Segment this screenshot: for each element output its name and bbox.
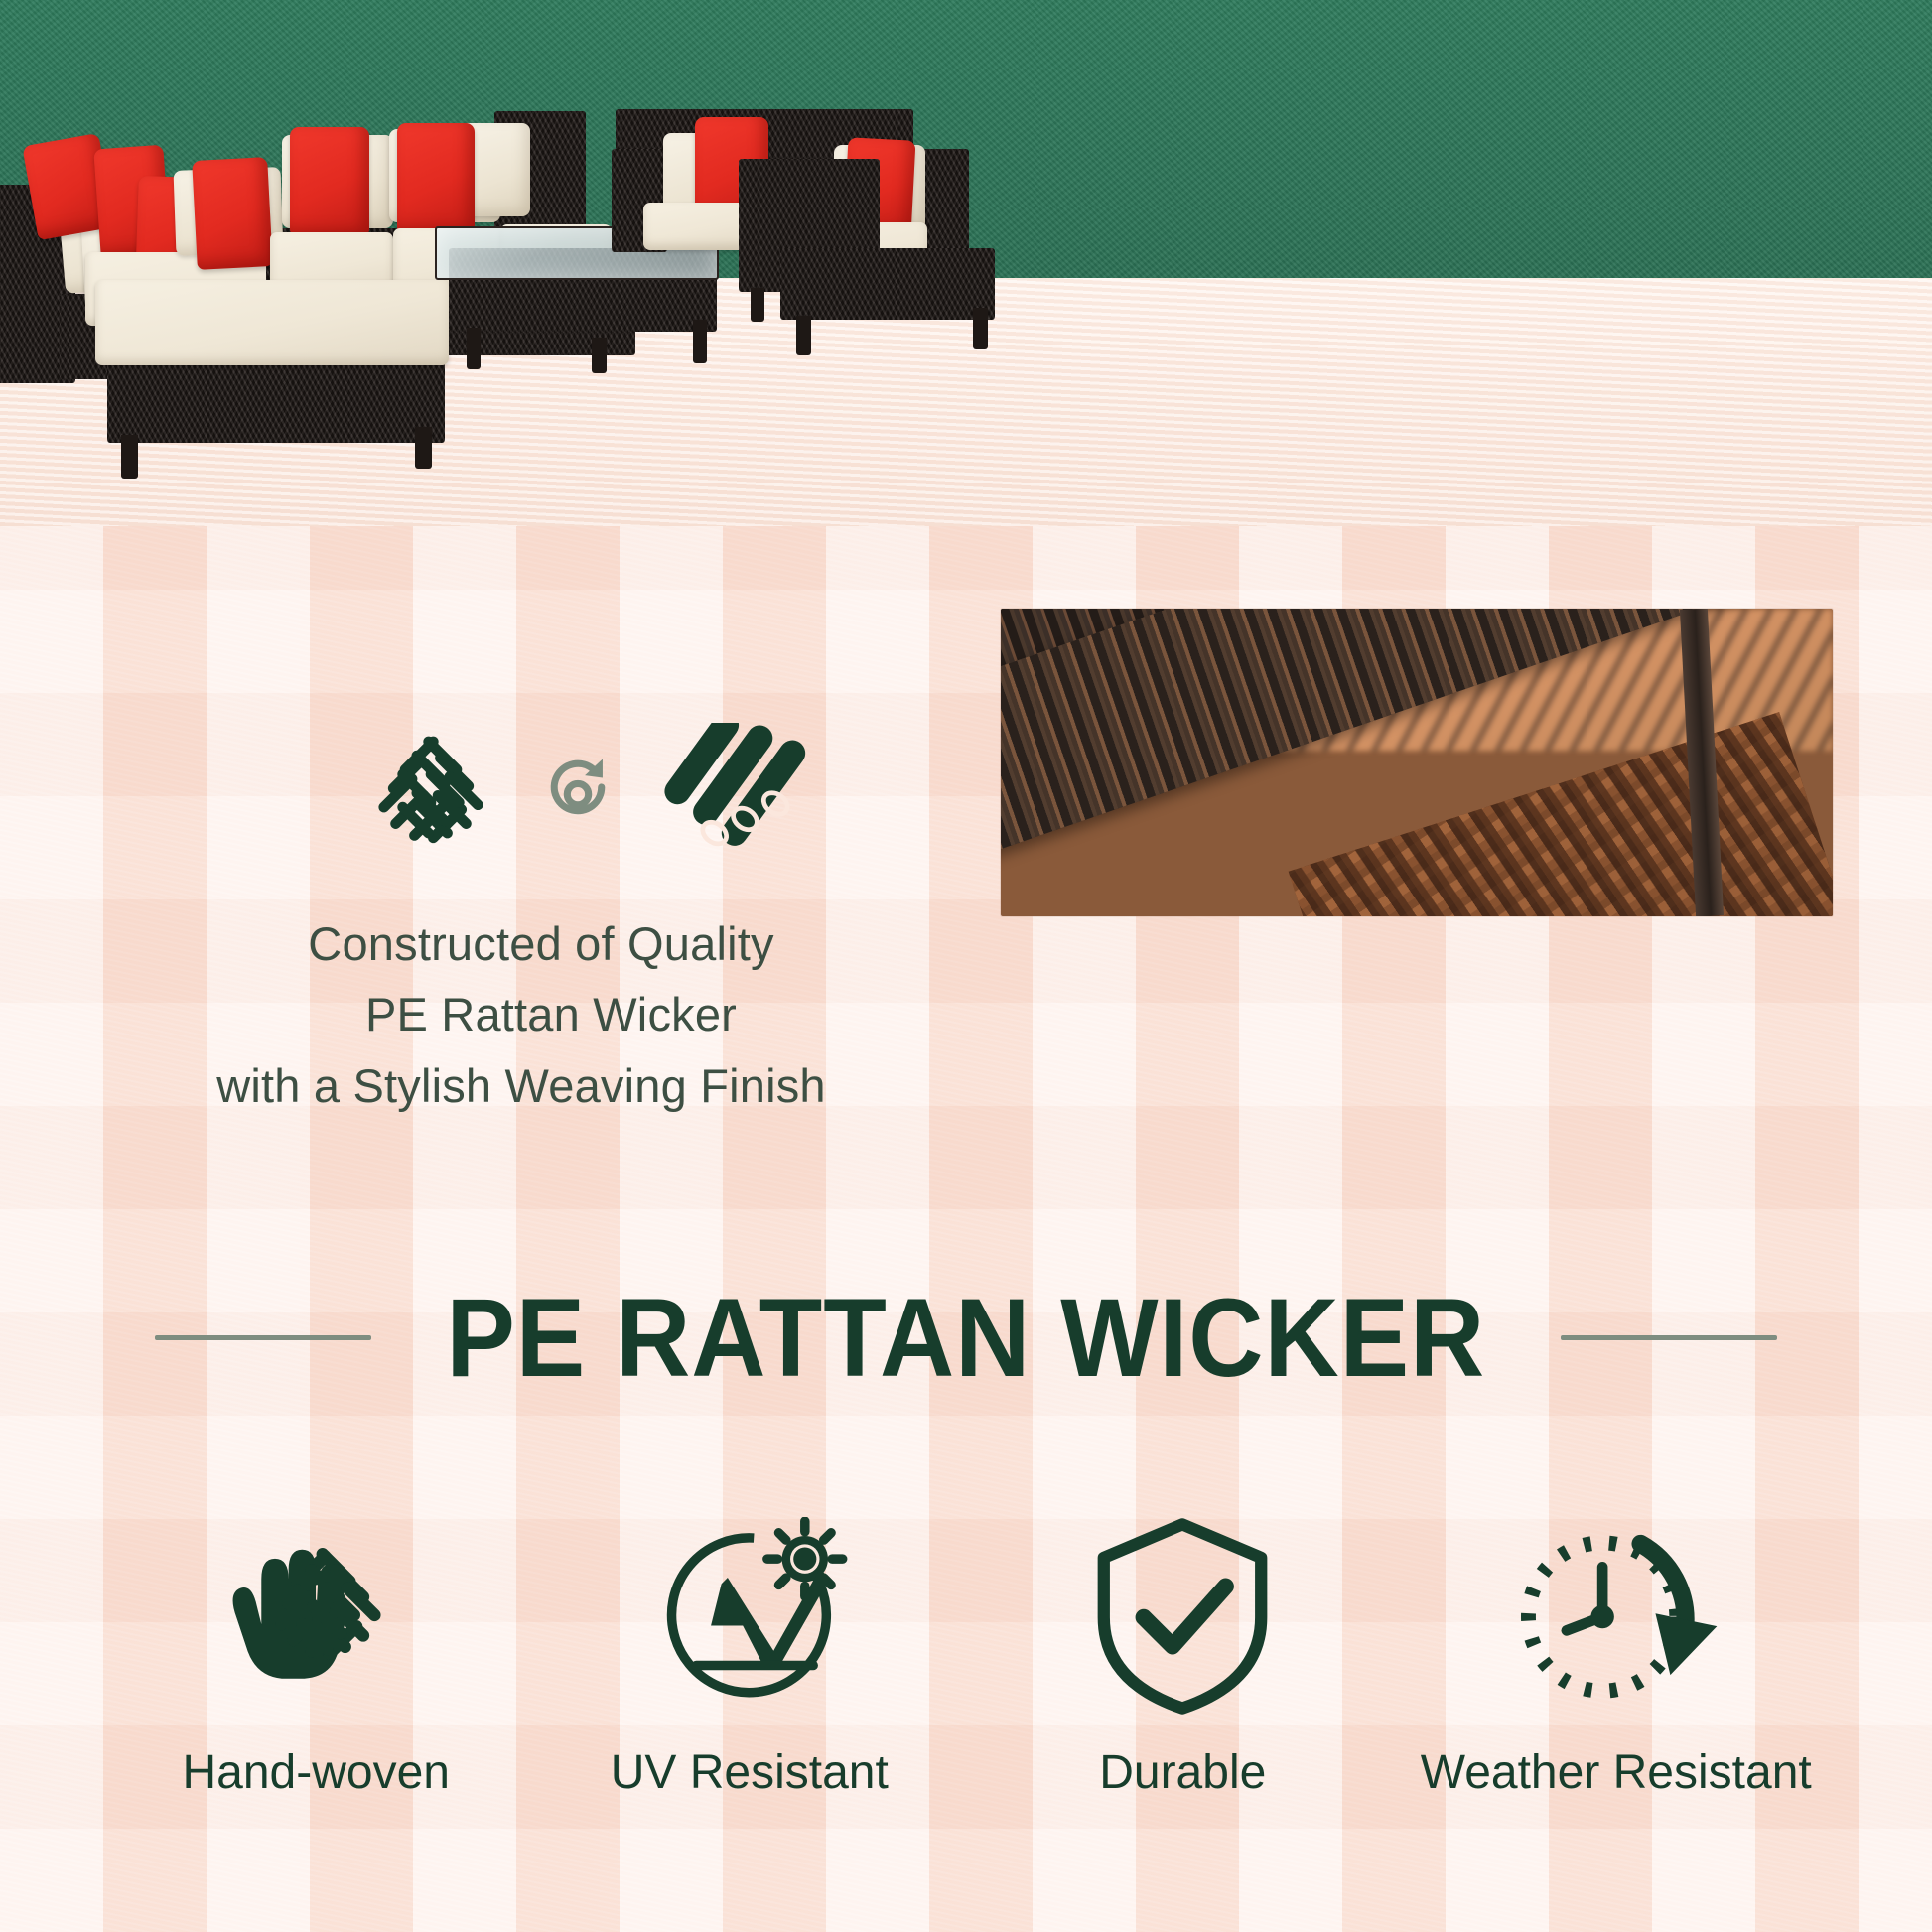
feature-weather-resistant: Weather Resistant bbox=[1448, 1501, 1785, 1800]
shield-check-icon bbox=[1088, 1501, 1277, 1731]
ottoman-cushion bbox=[95, 280, 449, 365]
uv-resistant-icon bbox=[650, 1501, 849, 1731]
mid-description-line-2: PE Rattan Wicker bbox=[109, 979, 933, 1049]
rattan-poles-icon bbox=[651, 723, 820, 852]
mid-description: Constructed of Quality PE Rattan Wicker … bbox=[109, 908, 933, 1121]
feature-durable-label: Durable bbox=[1099, 1745, 1266, 1800]
hero-product-photo bbox=[0, 0, 1932, 526]
mid-description-line-1: Constructed of Quality bbox=[109, 908, 933, 979]
headline-rule-left bbox=[155, 1335, 371, 1340]
rattan-closeup-photo bbox=[1001, 609, 1833, 916]
ottoman-leg-2 bbox=[415, 427, 432, 469]
headline-rule-right bbox=[1561, 1335, 1777, 1340]
side-table-leg bbox=[751, 288, 764, 322]
armchair-base bbox=[780, 248, 995, 320]
ottoman-leg-1 bbox=[121, 435, 138, 479]
red-pillow-5 bbox=[290, 127, 369, 236]
table-leg-1 bbox=[467, 328, 481, 369]
rotate-arrow-icon bbox=[540, 750, 616, 825]
infographic-page: Constructed of Quality PE Rattan Wicker … bbox=[0, 0, 1932, 1932]
headline-row: PE RATTAN WICKER bbox=[0, 1263, 1932, 1412]
mid-icon-row bbox=[357, 723, 913, 852]
feature-durable: Durable bbox=[1014, 1501, 1351, 1800]
hand-woven-icon bbox=[203, 1501, 429, 1731]
feature-uv-resistant: UV Resistant bbox=[581, 1501, 918, 1800]
red-pillow-6 bbox=[397, 123, 475, 234]
armchair-leg-1 bbox=[796, 316, 811, 355]
clock-arrow-icon bbox=[1505, 1501, 1727, 1731]
feature-hand-woven-label: Hand-woven bbox=[183, 1745, 450, 1800]
feature-row: Hand-woven bbox=[0, 1501, 1932, 1898]
woven-rhombus-icon bbox=[357, 723, 504, 852]
table-leg-2 bbox=[693, 320, 707, 363]
feature-hand-woven: Hand-woven bbox=[147, 1501, 484, 1800]
feature-uv-resistant-label: UV Resistant bbox=[611, 1745, 889, 1800]
feature-weather-resistant-label: Weather Resistant bbox=[1421, 1745, 1812, 1800]
page-title: PE RATTAN WICKER bbox=[447, 1274, 1486, 1402]
armchair-leg-2 bbox=[973, 308, 988, 349]
sofa-leg-2 bbox=[592, 338, 607, 373]
red-pillow-4 bbox=[192, 157, 273, 270]
mid-description-line-3: with a Stylish Weaving Finish bbox=[109, 1050, 933, 1121]
